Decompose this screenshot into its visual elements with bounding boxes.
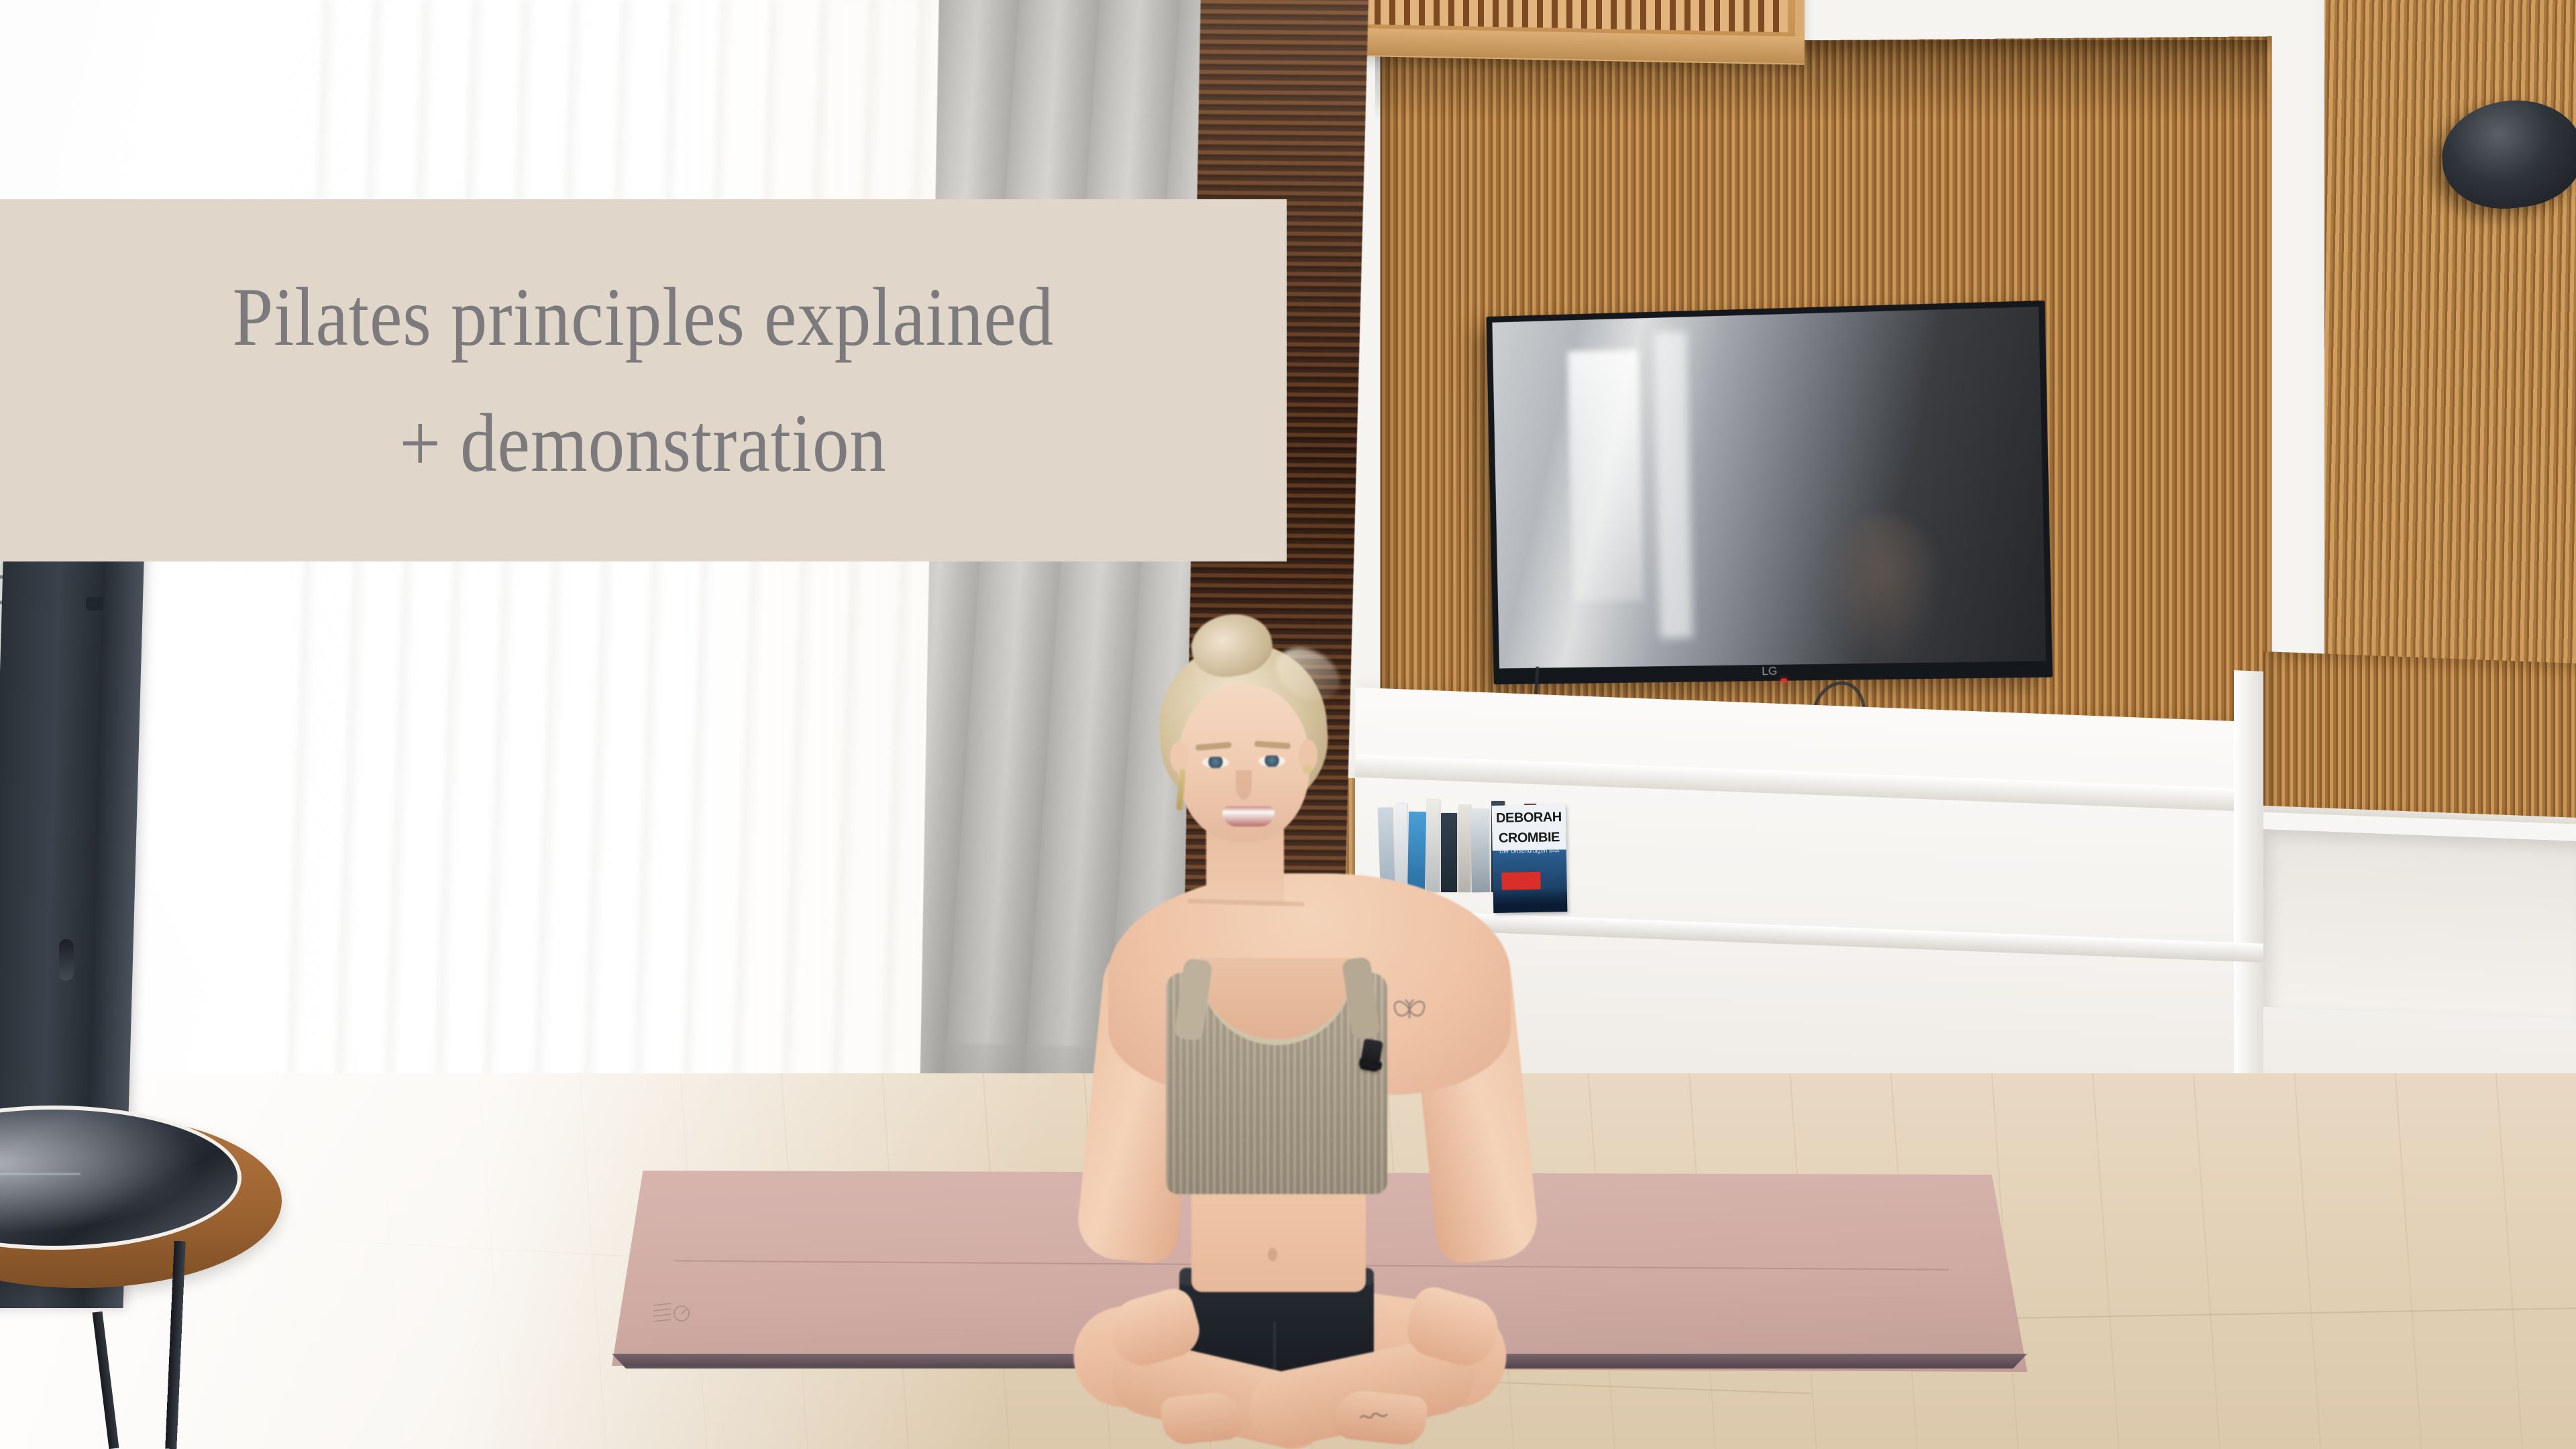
butterfly-tattoo [1390,994,1429,1025]
video-frame: LG DEBORAH CROMBIE Der Unsch [0,0,2576,1449]
shelf-cubby-wood [2263,651,2576,818]
shelf-cubby-open [2263,829,2576,1019]
tv-reflection-window [1568,350,1643,601]
title-card-overlay: Pilates principles explained + demonstra… [0,199,1287,561]
tv-reflection-bar [1654,331,1693,638]
shelf-divider [2234,670,2263,1087]
tv-standby-led [1781,679,1787,682]
tv-screen [1492,307,2046,668]
midriff [1191,1185,1366,1292]
title-line-2: + demonstration [400,398,887,488]
navel [1268,1248,1277,1261]
table-reflection-grille [0,1110,80,1244]
left-eye [1202,757,1229,768]
door-handle [59,939,74,981]
yoga-mat-logo [651,1300,695,1331]
door-lock [86,597,103,610]
left-ear [1170,741,1189,772]
right-eye [1258,755,1285,767]
foot-tattoo [1359,1407,1389,1425]
title-line-1: Pilates principles explained [233,272,1055,362]
tv-reflection-person [1821,514,1946,668]
tv-brand-logo: LG [1762,665,1778,678]
seated-instructor [1046,624,1623,1389]
ear-stud [1303,765,1312,774]
nose [1236,770,1252,800]
mouth [1222,806,1275,826]
